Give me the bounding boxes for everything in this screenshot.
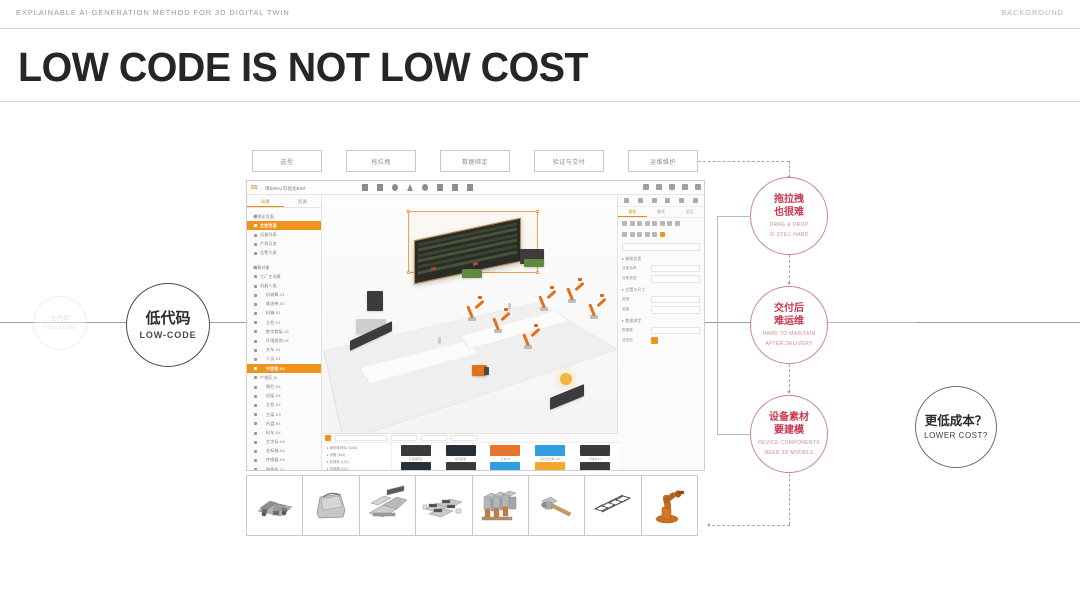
hand-tool-icon: [533, 483, 581, 529]
align-center-icon[interactable]: [630, 221, 635, 226]
model-cell-frame-rack[interactable]: [584, 475, 641, 536]
tree-node-icon: [254, 215, 257, 218]
tree-node-icon: [254, 413, 257, 416]
tab-properties[interactable]: 属性: [618, 207, 647, 217]
transform-icon[interactable]: [624, 198, 629, 203]
scene-tree-item-label: 托盘-04: [266, 421, 281, 426]
car-chassis-icon: [251, 483, 299, 529]
slide-canvas: 全代码 FULLCODE 低代码 LOW-CODE 更低成本？ LOWER CO…: [0, 103, 1080, 608]
scene-tree-item-label: 数字看板-01: [266, 329, 289, 334]
tree-node-icon: [254, 459, 257, 462]
scene-tree-item-label: 立柱-04: [266, 402, 281, 407]
asset-thumbnail: [535, 462, 565, 471]
connector-app-to-painpoint1-v: [717, 216, 718, 323]
process-step-1: 选型: [252, 150, 322, 172]
worker-figure-2: [508, 303, 511, 310]
undo-icon[interactable]: [643, 184, 649, 190]
distribute-v-icon[interactable]: [652, 221, 657, 226]
scene-tree-item[interactable]: 设备列表: [247, 230, 321, 239]
painpoint-2-cn-line2: 难运维: [774, 315, 804, 328]
property-row[interactable]: 对象类型: [618, 274, 704, 285]
left-panel-tabs[interactable]: 场景 资源: [247, 195, 321, 208]
preview-icon[interactable]: [669, 184, 675, 190]
path-tool-icon[interactable]: [452, 184, 458, 191]
align-right-icon[interactable]: [637, 221, 642, 226]
asset-tile[interactable]: PLC_柜体机: [484, 462, 528, 471]
page-title: LOW CODE IS NOT LOW COST: [18, 44, 588, 91]
mirror-icon[interactable]: [645, 232, 650, 237]
scene-tree-item[interactable]: 坐标轴-04: [247, 447, 321, 456]
asset-thumbnail: [535, 445, 565, 456]
property-value-input[interactable]: [651, 327, 700, 335]
slide-title-bar: LOW CODE IS NOT LOW COST: [0, 30, 1080, 102]
scene-tree-item[interactable]: 数字看板-01: [247, 327, 321, 336]
painpoint-circle-3: 设备素材 要建模 DEVICE COMPONENTS NEED 3D MODEL…: [750, 395, 828, 473]
connector-app-to-painpoint3-h: [717, 434, 751, 435]
scene-tree-item-label: 料车-04: [266, 430, 281, 435]
scene-tree-item-label: 叉车-01: [266, 347, 281, 352]
app-logo-icon: DS: [251, 185, 257, 191]
align-top-icon[interactable]: [660, 221, 665, 226]
asset-tile[interactable]: 输送带-04: [439, 462, 483, 471]
scene-tree-item-label: 坐标轴-04: [266, 448, 285, 453]
connector-painpoint2-to-lowercost: [828, 322, 916, 323]
asset-thumbnail: [580, 462, 610, 471]
asset-tile[interactable]: 对讲机-01: [573, 445, 617, 461]
asset-tile[interactable]: 叉车-01: [484, 445, 528, 461]
gear-icon[interactable]: [652, 198, 657, 203]
asset-category-item[interactable]: ▸ 设备 (344): [322, 451, 391, 458]
connector-down-to-painpoint1: [789, 161, 790, 177]
tree-node-icon: [254, 252, 257, 255]
painpoint-1-cn-line1: 拖拉拽: [774, 193, 804, 206]
editor-left-panel[interactable]: 场景 资源 可视化页面主控页面设备列表产线总览告警大屏场景对象工厂主场景机器人组…: [247, 195, 322, 471]
asset-caption: 对讲机-01: [589, 457, 601, 461]
frame-rack-icon: [589, 483, 637, 529]
scene-tree-item[interactable]: 立柱-04: [247, 401, 321, 410]
scene-tree-item[interactable]: 料车-04: [247, 428, 321, 437]
tree-node-icon: [254, 340, 257, 343]
select-tool-icon[interactable]: [362, 184, 368, 191]
tree-node-icon: [254, 294, 257, 297]
scene-tree-item-label: 中控柜-02: [266, 366, 285, 371]
scene-tree-item[interactable]: 输送带-01: [247, 300, 321, 309]
model-cell-robot-arm[interactable]: [641, 475, 698, 536]
fullcode-label-cn: 全代码: [50, 315, 70, 323]
asset-thumbnail: [401, 462, 431, 471]
property-row[interactable]: 宽度: [618, 294, 704, 305]
board-alert-cell: [473, 262, 478, 266]
conveyor-unit-icon: [363, 483, 411, 529]
object-search-field[interactable]: [622, 243, 700, 251]
asset-tile[interactable]: Battery_Module: [528, 462, 572, 471]
distribute-h-icon[interactable]: [645, 221, 650, 226]
painpoint-3-cn-line2: 要建模: [774, 424, 804, 437]
scene-tree-item-label: 机械臂-01: [266, 292, 285, 297]
lowercost-node: 更低成本？ LOWER COST?: [915, 386, 997, 468]
tree-node-icon: [254, 376, 257, 379]
scene-tree-item[interactable]: 围栏-04: [247, 382, 321, 391]
slide-top-bar: EXPLAINABLE AI-GENERATION METHOD FOR 3D …: [0, 0, 1080, 29]
painpoint-1-en-line2: IS STILL HARD: [769, 232, 808, 239]
color-swatch[interactable]: [651, 337, 658, 344]
robot-upper-arm: [596, 298, 606, 307]
robot-end-effector: [578, 278, 582, 281]
scene-tree-item[interactable]: 文字标-04: [247, 438, 321, 447]
asset-tile[interactable]: 电源柜-01: [573, 462, 617, 471]
resize-handle-br[interactable]: [536, 271, 539, 274]
scene-tree-item[interactable]: 主梁-03: [247, 410, 321, 419]
asset-tile[interactable]: 中控显示屏-102: [528, 445, 572, 461]
tab-scene[interactable]: 场景: [247, 195, 284, 207]
filter-format-dropdown[interactable]: [421, 435, 447, 441]
lowcode-label-en: LOW-CODE: [139, 330, 196, 340]
property-key: 对象名称: [622, 266, 648, 271]
connector-to-model-strip: [712, 525, 790, 526]
scene-tree-item-label: 输送带-01: [266, 301, 285, 306]
scene-tree-item[interactable]: 托盘-04: [247, 419, 321, 428]
model-thumbnail-strip[interactable]: [246, 475, 698, 536]
property-value-input[interactable]: [651, 306, 700, 314]
process-step-3-label: 数据绑定: [462, 157, 488, 166]
property-group-title: ▸ 基础信息: [618, 253, 704, 263]
tree-node-icon: [254, 330, 257, 333]
tree-node-icon: [254, 468, 257, 471]
connector-step5-to-painpoint1: [698, 161, 789, 162]
align-tool-row[interactable]: [618, 218, 704, 229]
asset-thumbnail: [490, 462, 520, 471]
pedestal-dark: [550, 384, 584, 410]
arrowhead-model-strip: [707, 523, 710, 527]
tab-interaction[interactable]: 交互: [675, 207, 704, 217]
tree-node-icon: [254, 358, 257, 361]
inspector-property-groups[interactable]: ▸ 基础信息对象名称对象类型▸ 位置与尺寸宽度高度▸ 数据绑定数据源状态色: [618, 253, 704, 346]
property-key: 数据源: [622, 328, 648, 333]
model-cell-conveyor[interactable]: [359, 475, 416, 536]
scale-icon[interactable]: [637, 232, 642, 237]
tree-node-icon: [254, 224, 257, 227]
property-value-input[interactable]: [651, 275, 700, 283]
scene-tree-item[interactable]: 传感器-04: [247, 456, 321, 465]
tree-node-icon: [254, 386, 257, 389]
process-step-2-label: 拖拉拽: [371, 157, 391, 166]
align-bottom-icon[interactable]: [675, 221, 680, 226]
scene-tree-item-label: 主控页面: [260, 223, 277, 228]
settings-icon[interactable]: [695, 184, 701, 190]
green-panel-a: [524, 259, 544, 267]
property-key: 对象类型: [622, 276, 648, 281]
painpoint-3-en-line2: NEED 3D MODELS: [764, 450, 813, 457]
move-icon[interactable]: [622, 232, 627, 237]
fullcode-node: 全代码 FULLCODE: [33, 296, 87, 350]
property-row[interactable]: 对象名称: [618, 263, 704, 274]
save-icon[interactable]: [682, 184, 688, 190]
tree-node-icon: [254, 234, 257, 237]
scene-tree-item[interactable]: 可视化页面: [247, 212, 321, 221]
property-group-title: ▸ 数据绑定: [618, 315, 704, 325]
robot-lower-arm: [588, 303, 596, 316]
connector-app-to-painpoint1-h: [717, 216, 751, 217]
asset-caption: 叉车-01: [501, 457, 511, 461]
robot-end-effector: [550, 286, 554, 289]
target-icon[interactable]: [679, 198, 684, 203]
worker-figure-1: [438, 337, 441, 344]
scene-tree-item[interactable]: 立柱-01: [247, 318, 321, 327]
scene-tree-item[interactable]: 主控页面: [247, 221, 321, 230]
tree-node-icon: [254, 321, 257, 324]
tree-node-icon: [254, 422, 257, 425]
connector-painpoint3-down: [789, 474, 790, 525]
fullcode-label-en: FULLCODE: [44, 325, 77, 331]
asset-library-panel[interactable]: ▸ 我的素材库 (1668)▸ 设备 (344)▸ 机械臂 (132)▸ 传感器…: [322, 433, 619, 471]
resize-handle-tl[interactable]: [407, 210, 410, 213]
property-key: 宽度: [622, 297, 648, 302]
scene-tree-item-label: 产线区-B: [260, 375, 277, 380]
scene-tree-item-label: 设备列表: [260, 232, 277, 237]
asset-category-item[interactable]: ▸ 机械臂 (132): [322, 458, 391, 465]
process-step-4-label: 验证与交付: [553, 157, 586, 166]
asset-category-item[interactable]: ▸ 我的素材库 (1668): [322, 444, 391, 451]
tree-node-icon: [254, 285, 257, 288]
painpoint-2-en-line2: AFTER DELIVERY: [765, 341, 812, 348]
inspector-tabs[interactable]: 属性 样式 交互: [618, 207, 704, 218]
lowcode-label-cn: 低代码: [145, 310, 190, 329]
asset-thumbnail: [446, 445, 476, 456]
scene-tree-item[interactable]: 料箱-01: [247, 309, 321, 318]
editor-toolbar: DS 博588AI可视化BIM: [247, 181, 705, 195]
robot-upper-arm: [546, 290, 556, 299]
scene-tree-item-label: 机器人组: [260, 283, 277, 288]
arrowhead-painpoint3: [787, 391, 791, 394]
asset-body: ▸ 我的素材库 (1668)▸ 设备 (344)▸ 机械臂 (132)▸ 传感器…: [322, 443, 619, 471]
scene-tree-item[interactable]: 产线总览: [247, 240, 321, 249]
platform-array-icon: [420, 483, 468, 529]
model-cell-car-door[interactable]: [302, 475, 359, 536]
model-cell-platform-array[interactable]: [415, 475, 472, 536]
asset-thumbnail: [401, 445, 431, 456]
robot-lower-arm: [466, 305, 474, 318]
machine-bank-icon: [476, 483, 524, 529]
tree-node-icon: [254, 367, 257, 370]
arrowhead-painpoint2: [787, 282, 791, 285]
painpoint-2-cn-line1: 交付后: [774, 302, 804, 315]
asset-toolbar[interactable]: [322, 434, 619, 443]
align-middle-icon[interactable]: [667, 221, 672, 226]
3d-viewport[interactable]: [322, 195, 619, 433]
asset-tile[interactable]: 监控大屏: [394, 462, 438, 471]
scene-tree-item[interactable]: 叉车-01: [247, 346, 321, 355]
scene-tree[interactable]: 可视化页面主控页面设备列表产线总览告警大屏场景对象工厂主场景机器人组机械臂-01…: [247, 208, 321, 471]
tree-node-icon: [254, 450, 257, 453]
asset-category-item[interactable]: ▸ 传感器 (221): [322, 465, 391, 471]
property-row[interactable]: 数据源: [618, 325, 704, 336]
asset-search-input[interactable]: [335, 435, 387, 441]
scene-tree-item-label: 围栏-04: [266, 384, 281, 389]
scene-tree-item-label: 摄像机-01: [266, 467, 285, 471]
scene-tree-item-label: 环境照明-01: [266, 338, 289, 343]
lowcode-editor-window[interactable]: DS 博588AI可视化BIM 场景: [246, 180, 705, 471]
property-row[interactable]: 高度: [618, 305, 704, 316]
process-step-3: 数据绑定: [440, 150, 510, 172]
painpoint-1-en-line1: DRAG & DROP: [770, 222, 809, 229]
robot-upper-arm: [574, 282, 584, 291]
asset-tile[interactable]: 数字看板: [439, 445, 483, 461]
property-key: 状态色: [622, 338, 648, 343]
lowcode-node: 低代码 LOW-CODE: [126, 283, 210, 367]
scene-tree-item[interactable]: 机器人组: [247, 281, 321, 290]
property-group-title: ▸ 位置与尺寸: [618, 284, 704, 294]
property-value-input[interactable]: [651, 265, 700, 273]
scene-tree-item[interactable]: 摄像机-01: [247, 465, 321, 471]
app-name-label: 博588AI可视化BIM: [265, 186, 305, 192]
resize-handle-bl[interactable]: [407, 271, 410, 274]
tree-node-icon: [254, 266, 257, 269]
forklift-vehicle[interactable]: [472, 365, 487, 376]
process-step-5: 运维维护: [628, 150, 698, 172]
robot-end-effector: [600, 294, 604, 297]
painpoint-3-en-line1: DEVICE COMPONENTS: [758, 440, 820, 447]
asset-caption: 传感器组件: [409, 457, 423, 461]
tree-node-icon: [254, 441, 257, 444]
process-step-5-label: 运维维护: [650, 157, 676, 166]
lowercost-label-en: LOWER COST?: [924, 431, 988, 440]
painpoint-3-cn-line1: 设备素材: [769, 411, 809, 424]
asset-thumbnail: [490, 445, 520, 456]
asset-thumbnail-grid[interactable]: 传感器组件数字看板叉车-01中控显示屏-102对讲机-01监控大屏输送带-04P…: [392, 443, 619, 471]
tree-node-icon: [254, 243, 257, 246]
scene-tree-item[interactable]: 产线区-B: [247, 373, 321, 382]
scene-tree-item[interactable]: 场景对象: [247, 263, 321, 272]
connector-app-to-painpoint3-v: [717, 322, 718, 434]
lock-icon[interactable]: [652, 232, 657, 237]
scene-tree-item[interactable]: 工厂主场景: [247, 272, 321, 281]
material-tool-icon[interactable]: [422, 184, 428, 191]
robot-arm-icon: [645, 483, 693, 529]
more-icon[interactable]: [693, 198, 698, 203]
property-key: 高度: [622, 307, 648, 312]
asset-tile[interactable]: 传感器组件: [394, 445, 438, 461]
property-row[interactable]: 状态色: [618, 336, 704, 346]
car-door-icon: [307, 483, 355, 529]
section-label: BACKGROUND: [1001, 8, 1064, 17]
robot-end-effector: [534, 324, 538, 327]
model-cell-car-chassis[interactable]: [246, 475, 303, 536]
scene-tree-item-label: 传感器-04: [266, 457, 285, 462]
asset-library-icon[interactable]: [325, 435, 331, 441]
model-cell-hand-tool[interactable]: [528, 475, 585, 536]
light-source-gizmo[interactable]: [560, 373, 572, 385]
camera-tool-icon[interactable]: [467, 184, 473, 191]
control-cabinet-dark[interactable]: [367, 291, 383, 311]
transform-tool-row[interactable]: [618, 229, 704, 240]
tree-node-icon: [254, 275, 257, 278]
toolbar-right-icons[interactable]: [643, 184, 701, 190]
painpoint-2-en-line1: HARD TO MAINTAIN: [763, 331, 816, 338]
scene-tree-item-label: 立柱-01: [266, 320, 281, 325]
inspector-icon-row[interactable]: [618, 195, 704, 207]
process-step-2: 拖拉拽: [346, 150, 416, 172]
robot-end-effector: [478, 296, 482, 299]
process-step-4: 验证与交付: [534, 150, 604, 172]
connector-painpoint2-to-3: [789, 364, 790, 392]
resize-handle-tr[interactable]: [536, 210, 539, 213]
tree-node-icon: [254, 303, 257, 306]
asset-thumbnail: [580, 445, 610, 456]
toolbar-icon-group[interactable]: [362, 184, 473, 191]
tree-node-icon: [254, 432, 257, 435]
scene-tree-item-label: 料箱-01: [266, 310, 281, 315]
layers-tool-icon[interactable]: [377, 184, 383, 191]
scene-tree-item-label: 告警大屏: [260, 250, 277, 255]
scene-tree-item-label: 人员-01: [266, 356, 281, 361]
asset-category-tree[interactable]: ▸ 我的素材库 (1668)▸ 设备 (344)▸ 机械臂 (132)▸ 传感器…: [322, 443, 392, 471]
tab-resources[interactable]: 资源: [284, 195, 321, 207]
scene-tree-item[interactable]: 机械臂-01: [247, 291, 321, 300]
scene-tree-item[interactable]: 告警大屏: [247, 249, 321, 258]
visibility-icon[interactable]: [660, 232, 665, 237]
filter-sort-dropdown[interactable]: [451, 435, 477, 441]
connector-painpoint1-to-2: [789, 255, 790, 283]
scene-tree-item-label: 机架-04: [266, 393, 281, 398]
scene-tree-item[interactable]: 人员-01: [247, 355, 321, 364]
text-tool-icon[interactable]: [437, 184, 443, 191]
model-cell-machine-bank[interactable]: [472, 475, 529, 536]
globe-tool-icon[interactable]: [392, 184, 398, 191]
scene-tree-item-label: 主梁-03: [266, 412, 281, 417]
property-value-input[interactable]: [651, 296, 700, 304]
grid-icon[interactable]: [638, 198, 643, 203]
scene-tree-item[interactable]: 环境照明-01: [247, 336, 321, 345]
scene-tree-item-label: 产线总览: [260, 241, 277, 246]
tab-style[interactable]: 样式: [647, 207, 676, 217]
link-icon[interactable]: [665, 198, 670, 203]
asset-thumbnail: [446, 462, 476, 471]
tree-node-icon: [254, 349, 257, 352]
asset-caption: 中控显示屏-102: [540, 457, 560, 461]
painpoint-circle-1: 拖拉拽 也很难 DRAG & DROP IS STILL HARD: [750, 177, 828, 255]
robot-upper-arm: [474, 300, 484, 309]
tree-node-icon: [254, 404, 257, 407]
align-left-icon[interactable]: [622, 221, 627, 226]
lowercost-label-cn: 更低成本？: [925, 414, 988, 430]
scene-tree-item[interactable]: 中控柜-02: [247, 364, 321, 373]
tree-node-icon: [254, 395, 257, 398]
scene-tree-item-label: 文字标-04: [266, 439, 285, 444]
filter-type-dropdown[interactable]: [391, 435, 417, 441]
scene-tree-item-label: 工厂主场景: [260, 274, 281, 279]
green-panel-b: [462, 269, 482, 278]
tree-node-icon: [254, 312, 257, 315]
editor-right-panel[interactable]: 属性 样式 交互 ▸: [617, 195, 704, 471]
rotate-icon[interactable]: [630, 232, 635, 237]
scene-tree-item[interactable]: 机架-04: [247, 392, 321, 401]
redo-icon[interactable]: [656, 184, 662, 190]
process-step-1-label: 选型: [280, 157, 293, 166]
robot-lower-arm: [566, 287, 574, 300]
light-tool-icon[interactable]: [407, 184, 413, 191]
painpoint-circle-2: 交付后 难运维 HARD TO MAINTAIN AFTER DELIVERY: [750, 286, 828, 364]
asset-caption: 数字看板: [455, 457, 466, 461]
paper-title-kicker: EXPLAINABLE AI-GENERATION METHOD FOR 3D …: [16, 8, 290, 17]
painpoint-1-cn-line2: 也很难: [774, 206, 804, 219]
